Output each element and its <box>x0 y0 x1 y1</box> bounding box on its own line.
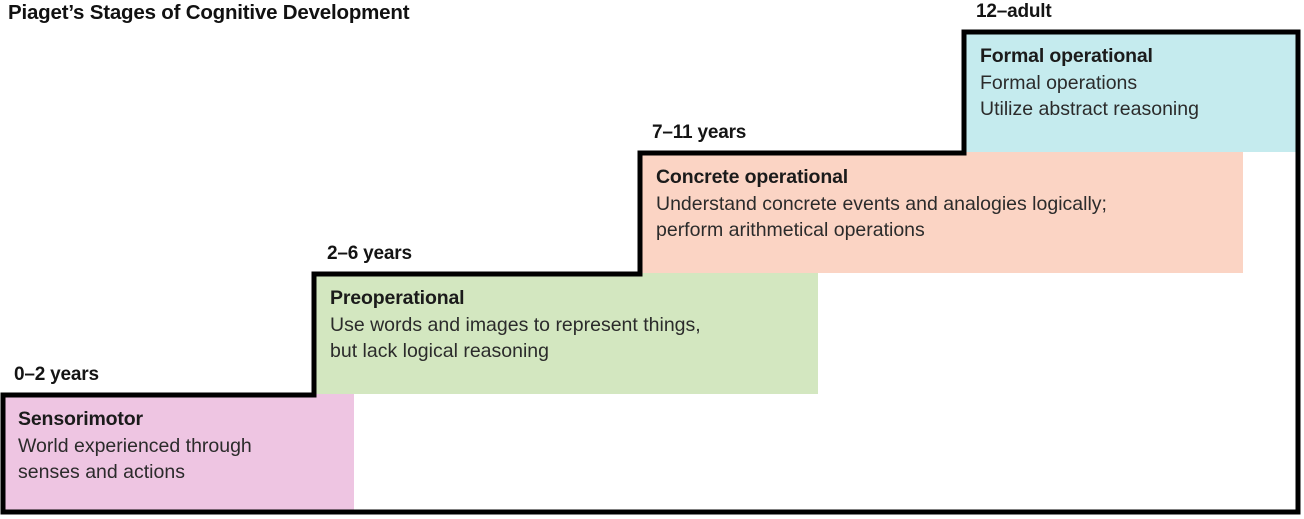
piaget-stages-figure: Piaget’s Stages of Cognitive Development… <box>0 0 1304 519</box>
stage-title-sensorimotor: Sensorimotor <box>18 408 338 431</box>
stage-title-formal-operational: Formal operational <box>980 45 1282 68</box>
stage-title-preoperational: Preoperational <box>330 287 802 310</box>
stage-description-preoperational: Use words and images to represent things… <box>330 313 802 365</box>
age-label-sensorimotor: 0–2 years <box>14 364 99 386</box>
stage-block-sensorimotor: Sensorimotor World experienced through s… <box>2 394 354 511</box>
stage-description-concrete-operational: Understand concrete events and analogies… <box>656 192 1227 244</box>
stage-block-formal-operational: Formal operational Formal operations Uti… <box>964 31 1298 152</box>
age-label-concrete-operational: 7–11 years <box>652 122 746 144</box>
stage-description-sensorimotor: World experienced through senses and act… <box>18 434 338 486</box>
age-label-preoperational: 2–6 years <box>327 243 412 265</box>
page-title: Piaget’s Stages of Cognitive Development <box>8 1 409 25</box>
age-label-formal-operational: 12–adult <box>976 1 1052 23</box>
stage-description-formal-operational: Formal operations Utilize abstract reaso… <box>980 71 1282 123</box>
stage-block-concrete-operational: Concrete operational Understand concrete… <box>640 152 1243 273</box>
stage-block-preoperational: Preoperational Use words and images to r… <box>314 273 818 394</box>
stage-title-concrete-operational: Concrete operational <box>656 166 1227 189</box>
